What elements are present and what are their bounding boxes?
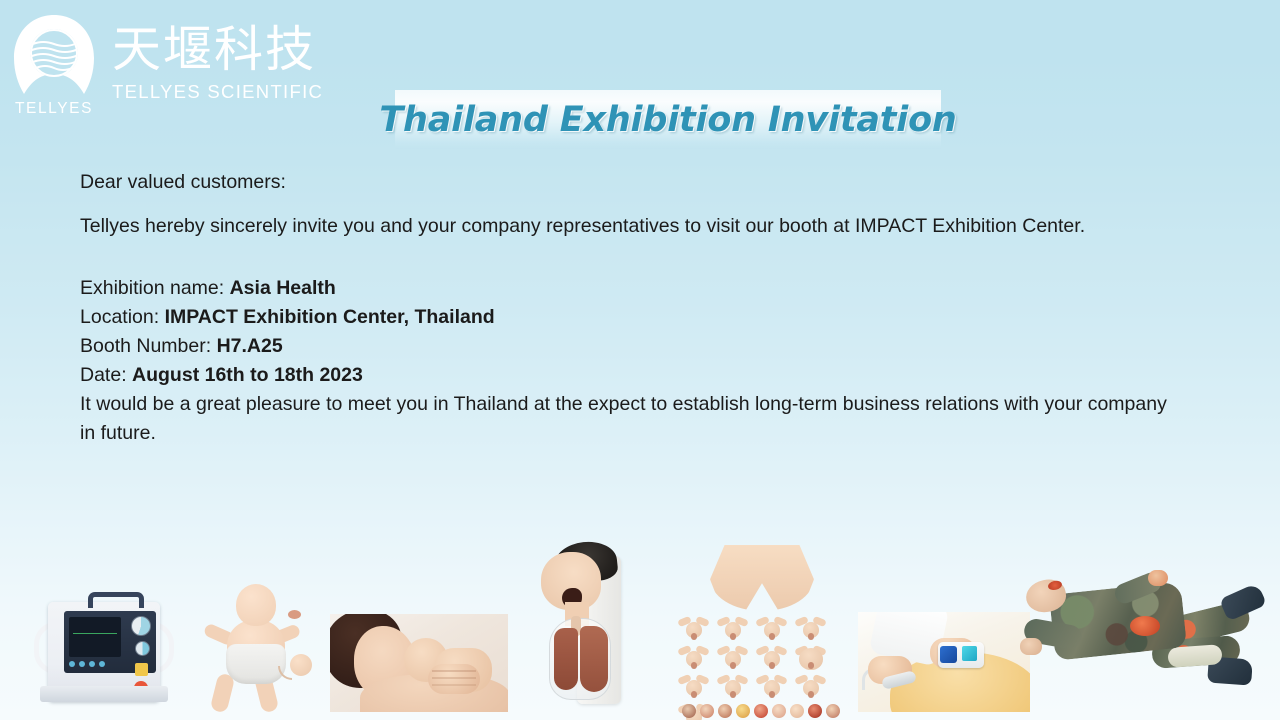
uterus-model: [717, 617, 748, 639]
uterus-model: [717, 646, 748, 668]
product-infant-cpr-manikin: [200, 584, 310, 712]
defib-control-panel: [64, 611, 156, 673]
cervix-disc: [826, 704, 840, 718]
uterus-model: [756, 675, 787, 697]
detail-row-date: Date: August 16th to 18th 2023: [80, 361, 1220, 390]
detail-value: Asia Health: [230, 277, 336, 299]
cervix-disc: [700, 704, 714, 718]
cervix-disc: [718, 704, 732, 718]
cervix-disc: [772, 704, 786, 718]
brand-logo-block: TELLYES 天堰科技 TELLYES SCIENTIFIC: [10, 12, 323, 116]
product-defibrillator-monitor: [34, 602, 174, 702]
detail-row-booth-number: Booth Number: H7.A25: [80, 332, 1220, 361]
supporting-hand: [428, 664, 480, 694]
product-combat-trauma-casualty-manikin: [1018, 566, 1268, 714]
uterus-model: [678, 646, 709, 668]
letter-closing: It would be a great pleasure to meet you…: [80, 390, 1185, 448]
detail-label: Location:: [80, 306, 159, 328]
detail-row-exhibition-name: Exhibition name: Asia Health: [80, 274, 1220, 303]
infant-diaper: [226, 644, 286, 684]
infant-mouth: [288, 610, 301, 619]
letter-greeting: Dear valued customers:: [80, 168, 1220, 196]
product-breastfeeding-training-model: [330, 614, 508, 712]
casualty-wound: [1130, 616, 1160, 636]
cervix-disc: [682, 704, 696, 718]
uterus-model: [678, 617, 709, 639]
defib-handle: [88, 592, 144, 608]
defib-mode-dial: [135, 641, 150, 656]
detail-label: Exhibition name:: [80, 277, 224, 299]
product-obstetric-ultrasound-procedure-photo: [858, 612, 1030, 712]
product-gynecological-uterus-model-set: [678, 545, 848, 720]
casualty-hand-near: [1020, 638, 1042, 655]
brand-name-english: TELLYES SCIENTIFIC: [112, 80, 323, 104]
casualty-hand-far-injured: [1148, 570, 1168, 586]
defib-screen: [69, 617, 121, 657]
pelvic-torso-model: [710, 545, 814, 611]
uterus-model: [678, 675, 709, 697]
title-banner: Thailand Exhibition Invitation: [395, 90, 941, 149]
detail-value: August 16th to 18th 2023: [132, 364, 363, 386]
cervix-pathology-disc-row: [682, 704, 840, 718]
trainer-lung-right: [580, 626, 608, 692]
uterus-model-enlarged: [795, 646, 826, 668]
detail-row-location: Location: IMPACT Exhibition Center, Thai…: [80, 303, 1220, 332]
cervix-disc: [808, 704, 822, 718]
brand-name-chinese: 天堰科技: [112, 22, 323, 78]
invitation-letter: Dear valued customers: Tellyes hereby si…: [80, 168, 1220, 448]
uterus-model: [795, 675, 826, 697]
uterus-model: [756, 646, 787, 668]
detail-label: Date:: [80, 364, 127, 386]
detail-value: H7.A25: [217, 335, 283, 357]
product-image-strip: [0, 520, 1280, 720]
defib-button-row: [69, 661, 105, 667]
defib-base: [40, 686, 168, 702]
defib-energy-dial: [131, 616, 151, 636]
defib-charge-button: [135, 663, 148, 676]
exhibition-details: Exhibition name: Asia Health Location: I…: [80, 274, 1220, 390]
uterus-model: [717, 675, 748, 697]
cervix-disc: [790, 704, 804, 718]
infant-squeeze-bulb: [290, 654, 312, 676]
infant-head: [236, 584, 276, 626]
tellyes-dome-wave-logo-icon: TELLYES: [10, 12, 98, 116]
page-title: Thailand Exhibition Invitation: [379, 100, 956, 140]
detail-label: Booth Number:: [80, 335, 211, 357]
uterus-model: [795, 617, 826, 639]
logo-wordmark: TELLYES: [10, 100, 98, 118]
product-airway-intubation-lung-trainer: [525, 542, 635, 712]
cervix-disc: [736, 704, 750, 718]
device-cyan-display: [962, 646, 977, 661]
letter-intro: Tellyes hereby sincerely invite you and …: [80, 212, 1220, 240]
cervix-disc: [754, 704, 768, 718]
trainer-lung-left: [554, 628, 578, 690]
device-blue-panel: [940, 646, 957, 663]
detail-value: IMPACT Exhibition Center, Thailand: [165, 306, 495, 328]
brand-name-block: 天堰科技 TELLYES SCIENTIFIC: [112, 12, 323, 104]
uterus-model: [756, 617, 787, 639]
